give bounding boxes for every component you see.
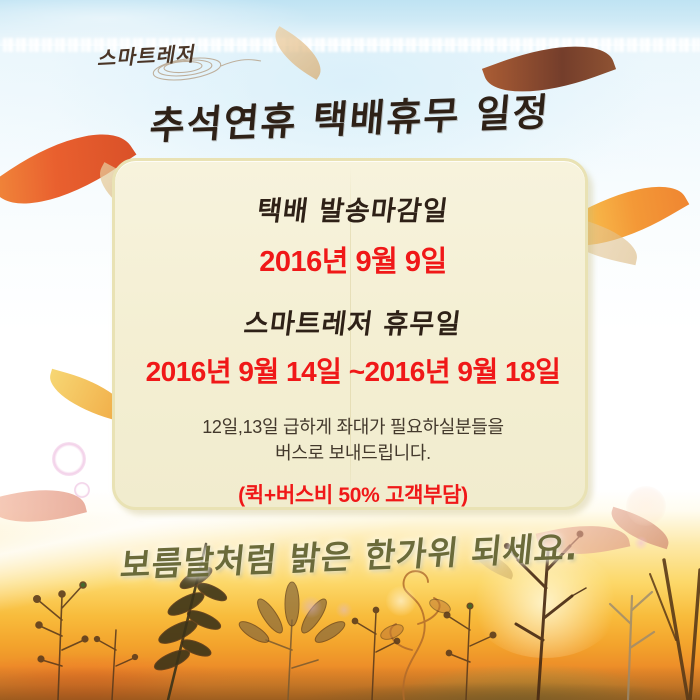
notice-card: 택배 발송마감일 2016년 9월 9일 스마트레저 휴무일 2016년 9월 … [112,158,588,510]
logo-text: 스마트레저 [96,37,199,71]
holiday-heading: 스마트레저 휴무일 [113,302,594,341]
brand-logo: 스마트레저 [95,38,275,84]
shipping-deadline-date: 2016년 9월 9일 [115,238,591,280]
card-content: 택배 발송마감일 2016년 9월 9일 스마트레저 휴무일 2016년 9월 … [115,161,591,513]
note-text: 12일,13일 급하게 좌대가 필요하실분들을 버스로 보내드립니다. [115,414,591,466]
holiday-date-range: 2016년 9월 14일 ~2016년 9월 18일 [115,350,591,390]
shipping-deadline-heading: 택배 발송마감일 [113,189,594,228]
ground-strip [0,666,700,700]
note-line-1: 12일,13일 급하게 좌대가 필요하실분들을 [115,414,591,440]
note-line-2: 버스로 보내드립니다. [115,440,591,466]
fee-notice: (퀵+버스비 50% 고객부담) [115,479,591,509]
poster-root: 스마트레저 추석연휴 택배휴무 일정 택배 발송마감일 2016년 9월 9일 … [0,0,700,700]
